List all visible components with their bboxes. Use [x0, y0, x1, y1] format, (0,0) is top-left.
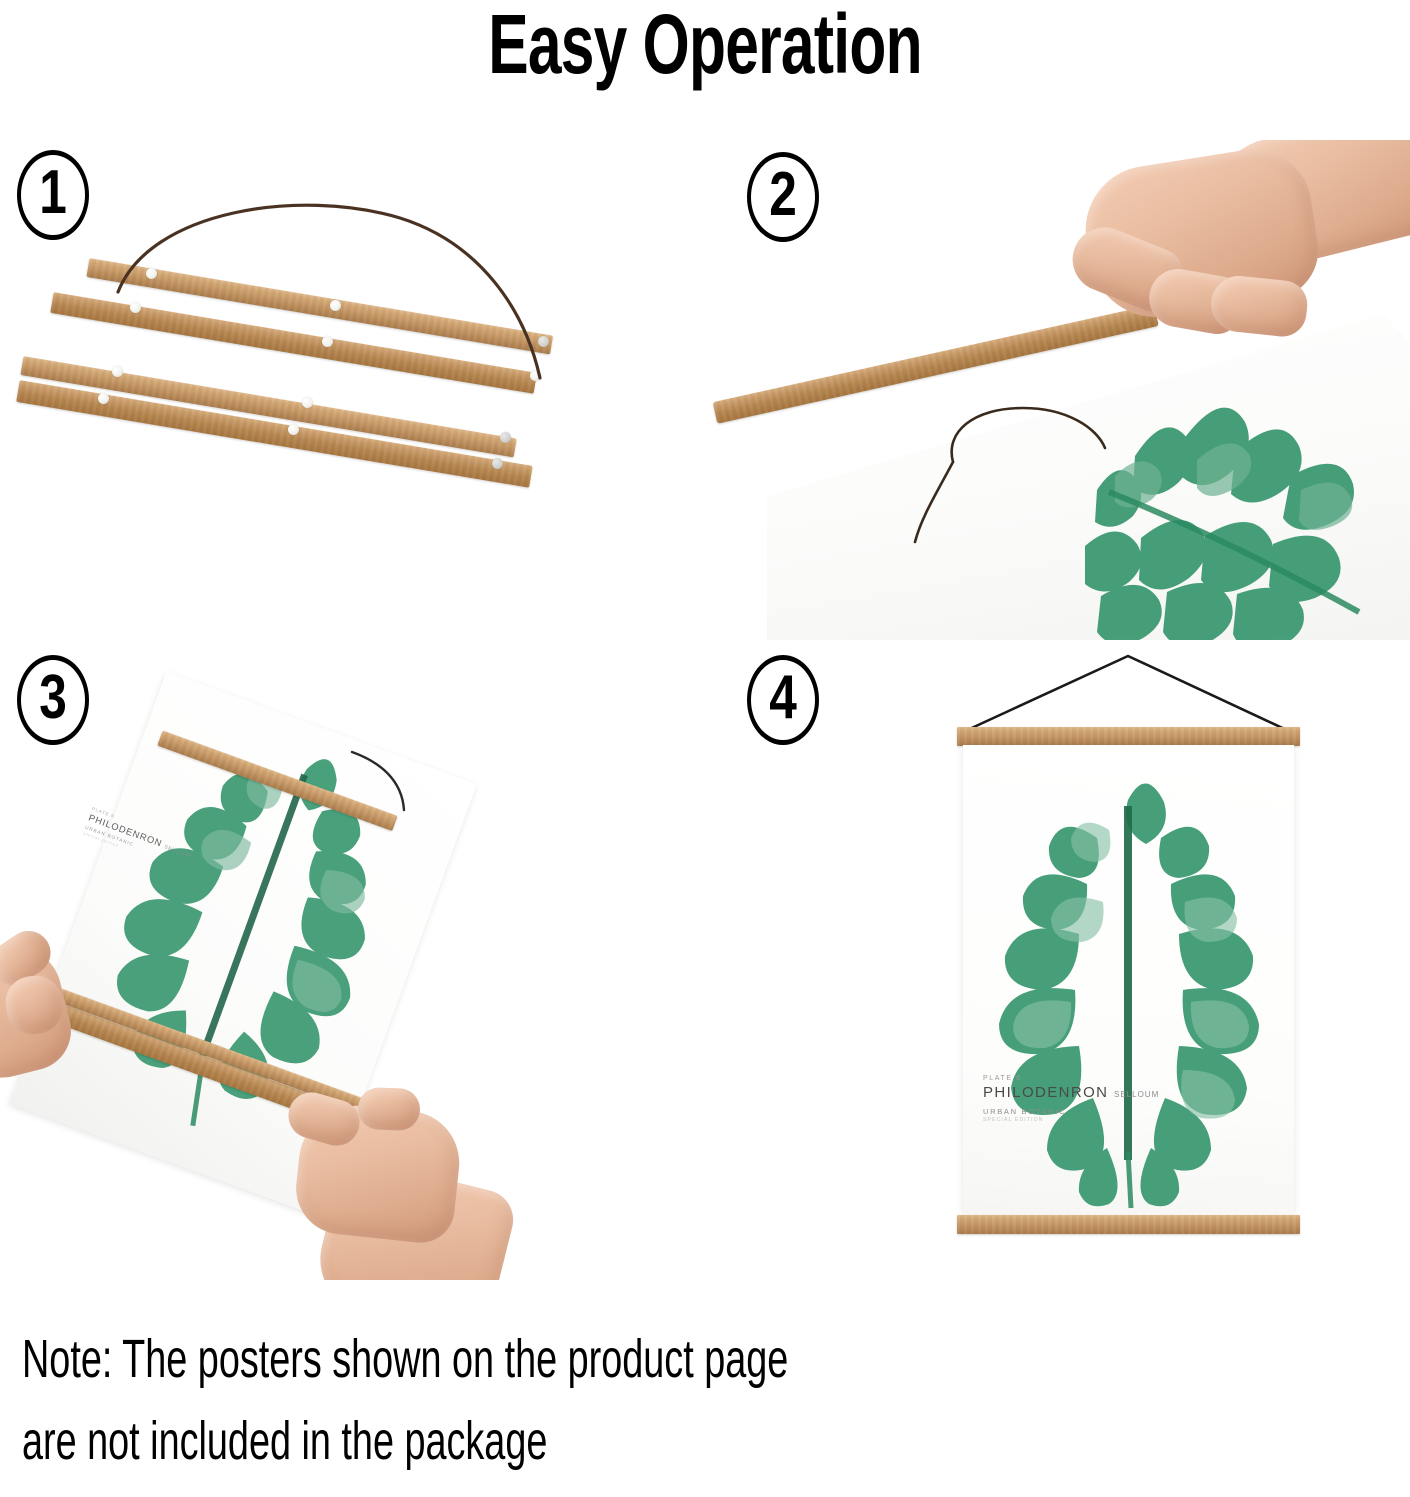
wood-strip-bottom	[957, 1215, 1300, 1234]
hand-right	[280, 1102, 530, 1280]
poster-subtitle: SPECIAL EDITION	[983, 1117, 1159, 1124]
poster-brand: URBAN BOTANIC	[983, 1107, 1159, 1117]
page-title: Easy Operation	[197, 0, 1212, 93]
step-3-illustration: PLATE 6 PHILODENRON SELLOUM URBAN BOTANI…	[0, 640, 700, 1280]
note-line-1: Note: The posters shown on the product p…	[22, 1318, 988, 1400]
step-badge-3: 3	[17, 655, 89, 745]
note-text: Note: The posters shown on the product p…	[22, 1318, 988, 1482]
index-finger	[357, 1087, 420, 1131]
step-badge-2: 2	[747, 152, 819, 242]
step-badge-1: 1	[17, 150, 89, 240]
step-4-illustration: PLATE 6 PHILODENRON SELLOUM URBAN BOTANI…	[705, 640, 1410, 1280]
hand-pressing-strip	[1035, 140, 1410, 440]
poster-caption: PLATE 6 PHILODENRON SELLOUM URBAN BOTANI…	[983, 1074, 1159, 1124]
poster-name: PHILODENRON SELLOUM	[983, 1083, 1159, 1103]
leaf-artwork	[705, 640, 1410, 1280]
hanging-cord	[0, 140, 700, 640]
note-line-2: are not included in the package	[22, 1400, 988, 1482]
poster-species: SELLOUM	[1114, 1090, 1159, 1099]
hand-left	[0, 930, 106, 1110]
poster-plate-label: PLATE 6	[983, 1074, 1159, 1083]
step-badge-4: 4	[747, 655, 819, 745]
step-1-illustration	[0, 140, 700, 640]
